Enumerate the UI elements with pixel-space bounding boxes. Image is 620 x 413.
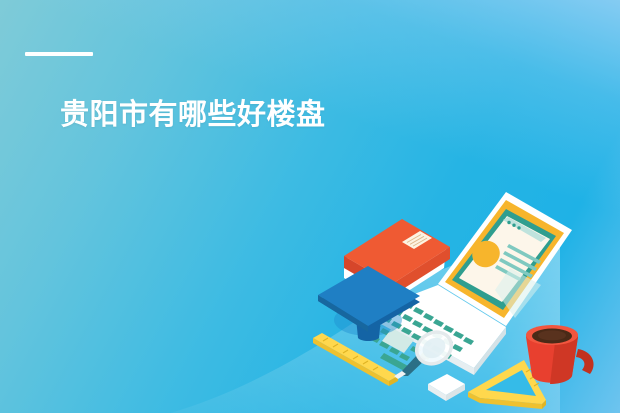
page-title: 贵阳市有哪些好楼盘 (60, 96, 365, 132)
eraser-icon (428, 374, 465, 401)
accent-rule (25, 52, 93, 56)
coffee-mug-icon (526, 325, 594, 384)
promo-banner: 贵阳市有哪些好楼盘 (0, 0, 620, 413)
desk-illustration (310, 168, 620, 413)
text-block: 贵阳市有哪些好楼盘 (25, 38, 365, 132)
desk-illustration-svg (310, 168, 620, 413)
